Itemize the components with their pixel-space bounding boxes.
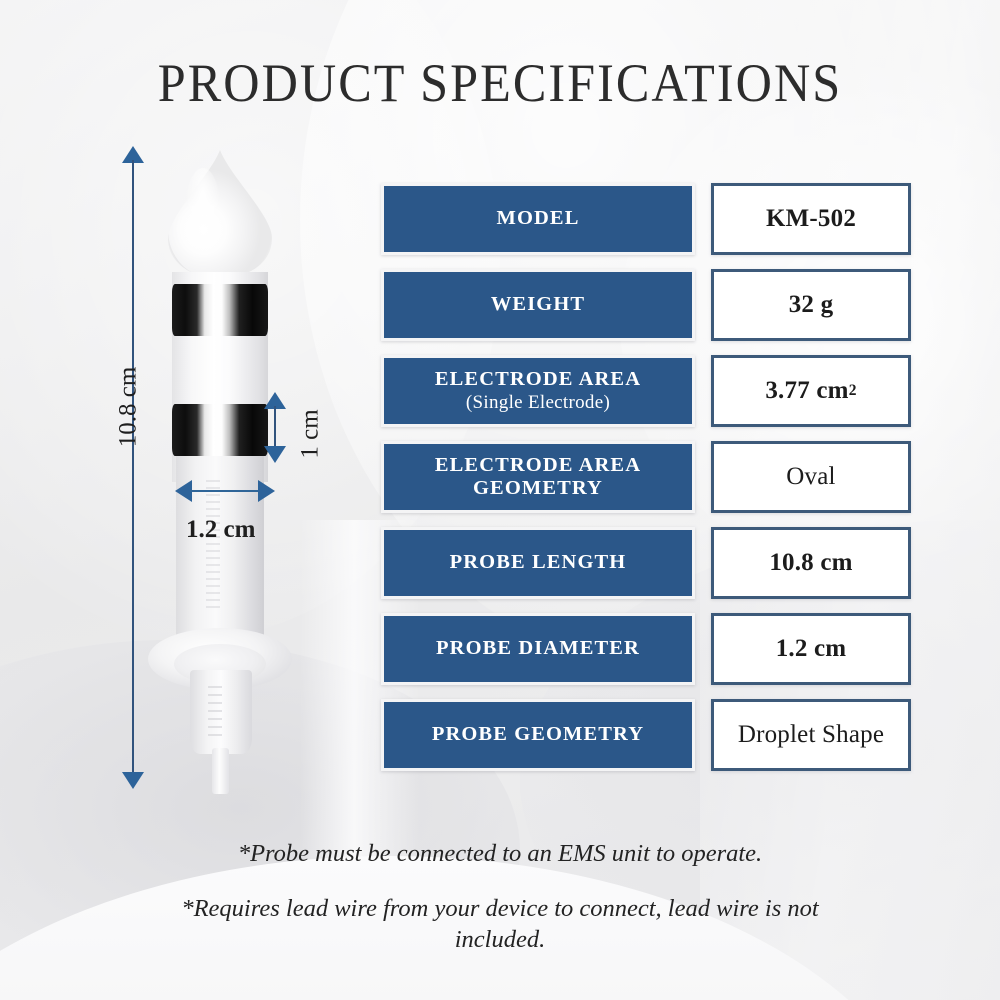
spec-label-text: WEIGHT xyxy=(491,293,585,316)
spec-value-weight: 32 g xyxy=(711,269,911,341)
spec-label-text: PROBE GEOMETRY xyxy=(432,723,644,746)
spec-value-text: Oval xyxy=(786,463,835,491)
spec-label-probe-length: PROBE LENGTH xyxy=(381,527,695,599)
footnote-ems-unit: *Probe must be connected to an EMS unit … xyxy=(0,838,1000,869)
diameter-dimension-line xyxy=(190,490,260,492)
table-row: ELECTRODE AREA (Single Electrode) 3.77 c… xyxy=(381,355,911,427)
spec-label-electrode-geometry: ELECTRODE AREA GEOMETRY xyxy=(381,441,695,513)
spec-value-text: 10.8 cm xyxy=(769,549,852,577)
product-image-probe xyxy=(150,150,290,790)
specifications-table: MODEL KM-502 WEIGHT 32 g ELECTRODE AREA … xyxy=(381,183,911,785)
probe-droplet-tip xyxy=(168,150,272,278)
footnote-lead-wire: *Requires lead wire from your device to … xyxy=(0,893,1000,956)
height-dimension-line xyxy=(132,160,134,774)
spec-label-text: PROBE LENGTH xyxy=(450,551,627,574)
spec-value-superscript: 2 xyxy=(849,382,857,400)
spec-value-probe-diameter: 1.2 cm xyxy=(711,613,911,685)
spec-label-probe-diameter: PROBE DIAMETER xyxy=(381,613,695,685)
spec-value-text: 3.77 cm xyxy=(765,377,848,405)
band-dimension-line xyxy=(274,406,276,448)
table-row: MODEL KM-502 xyxy=(381,183,911,255)
spec-label-text: MODEL xyxy=(497,207,580,230)
band-dimension-label: 1 cm xyxy=(297,409,325,458)
diameter-dimension-label: 1.2 cm xyxy=(186,516,255,544)
probe-barrel-ribs xyxy=(206,480,220,610)
probe-electrode-band-upper xyxy=(172,284,268,336)
probe-neck-ribs xyxy=(208,686,222,740)
spec-label-probe-geometry: PROBE GEOMETRY xyxy=(381,699,695,771)
spec-label-text-wrapper: ELECTRODE AREA (Single Electrode) xyxy=(435,368,641,414)
spec-label-model: MODEL xyxy=(381,183,695,255)
table-row: WEIGHT 32 g xyxy=(381,269,911,341)
band-arrow-down-icon xyxy=(264,446,286,463)
spec-value-text: KM-502 xyxy=(766,205,856,233)
height-arrow-down-icon xyxy=(122,772,144,789)
spec-value-text: Droplet Shape xyxy=(738,721,884,749)
spec-label-text: PROBE DIAMETER xyxy=(436,637,640,660)
spec-value-probe-geometry: Droplet Shape xyxy=(711,699,911,771)
page-title: PRODUCT SPECIFICATIONS xyxy=(35,52,965,114)
spec-label-text: ELECTRODE AREA GEOMETRY xyxy=(384,454,692,501)
probe-cable-stub xyxy=(212,748,229,794)
spec-label-sublabel: (Single Electrode) xyxy=(435,392,641,414)
spec-value-text: 32 g xyxy=(789,291,834,319)
spec-value-electrode-geometry: Oval xyxy=(711,441,911,513)
probe-electrode-band-lower xyxy=(172,404,268,456)
table-row: PROBE GEOMETRY Droplet Shape xyxy=(381,699,911,771)
probe-tip-highlight xyxy=(186,168,220,246)
product-specifications-page: PRODUCT SPECIFICATIONS 10.8 cm 1 cm 1.2 … xyxy=(0,0,1000,1000)
spec-label-electrode-area: ELECTRODE AREA (Single Electrode) xyxy=(381,355,695,427)
table-row: ELECTRODE AREA GEOMETRY Oval xyxy=(381,441,911,513)
spec-label-text: ELECTRODE AREA xyxy=(435,368,641,390)
height-dimension-label: 10.8 cm xyxy=(114,367,142,448)
spec-value-text: 1.2 cm xyxy=(776,635,847,663)
diameter-arrow-right-icon xyxy=(258,480,275,502)
spec-value-electrode-area: 3.77 cm2 xyxy=(711,355,911,427)
table-row: PROBE DIAMETER 1.2 cm xyxy=(381,613,911,685)
spec-value-probe-length: 10.8 cm xyxy=(711,527,911,599)
spec-value-model: KM-502 xyxy=(711,183,911,255)
table-row: PROBE LENGTH 10.8 cm xyxy=(381,527,911,599)
footnote-lead-wire-text: *Requires lead wire from your device to … xyxy=(135,893,865,956)
spec-label-weight: WEIGHT xyxy=(381,269,695,341)
